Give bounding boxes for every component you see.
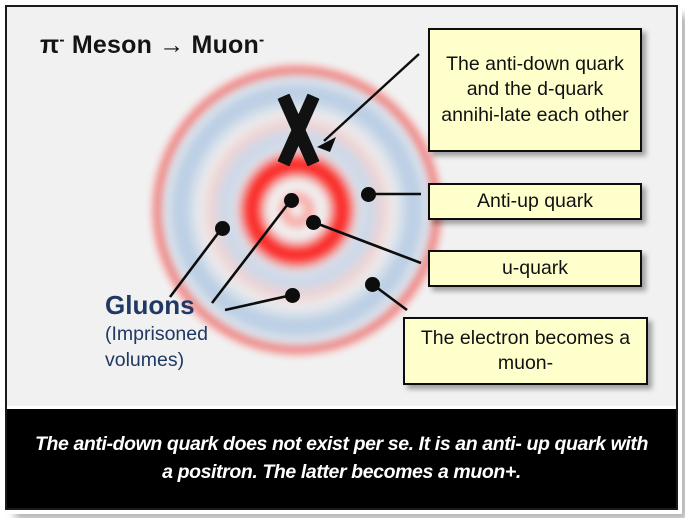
- caption-bar: The anti-down quark does not exist per s…: [7, 409, 676, 508]
- callout-u-quark[interactable]: u-quark: [428, 250, 642, 287]
- diagram-area: π- Meson → Muon-: [7, 7, 676, 406]
- dot-gluon-upper-left: [215, 221, 230, 236]
- callout-electron-becomes-muon[interactable]: The electron becomes a muon-: [403, 317, 648, 385]
- callout-anti-down-annihilation[interactable]: The anti-down quark and the d-quark anni…: [428, 28, 642, 152]
- dot-electron: [365, 277, 380, 292]
- title-main-text: Meson → Muon: [72, 31, 259, 59]
- annihilation-x-icon: [273, 97, 323, 163]
- page-title: π- Meson → Muon-: [40, 31, 264, 60]
- caption-line-1: The anti-down quark does not exist per s…: [35, 433, 521, 455]
- title-muon-superscript: -: [259, 31, 264, 48]
- gluons-sublabel: (Imprisoned volumes): [105, 322, 265, 374]
- gluons-label: Gluons: [105, 290, 195, 321]
- callout-anti-up-quark[interactable]: Anti-up quark: [428, 183, 642, 220]
- dot-gluon-lower: [285, 288, 300, 303]
- title-pi-superscript: -: [59, 31, 64, 48]
- dot-anti-up-quark: [361, 187, 376, 202]
- dot-u-quark: [306, 215, 321, 230]
- caption-text: The anti-down quark does not exist per s…: [32, 431, 652, 486]
- figure-root: π- Meson → Muon-: [0, 0, 685, 518]
- title-pi-symbol: π: [40, 31, 59, 59]
- dot-center-quark: [284, 193, 299, 208]
